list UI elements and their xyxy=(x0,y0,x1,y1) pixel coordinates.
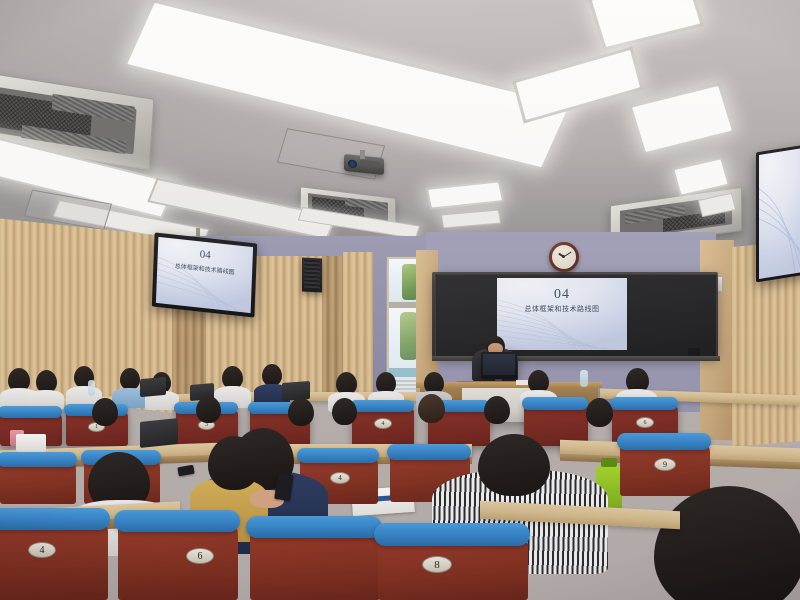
tissue-box xyxy=(16,434,46,452)
seat: 4 xyxy=(352,406,414,446)
wood-acoustic-panel xyxy=(343,252,373,392)
seat xyxy=(250,528,380,600)
right-wall-monitor xyxy=(756,144,800,283)
lecture-hall-photo: 04 总体框架和技术路线图 04 总体框架和技术路线图 xyxy=(0,0,800,600)
seat-number-plate: 9 xyxy=(654,458,676,471)
attendee-head xyxy=(332,398,357,425)
wall-speaker xyxy=(302,257,322,292)
seat: 8 xyxy=(378,536,528,600)
seat xyxy=(0,460,76,504)
seat-number-plate: 4 xyxy=(374,418,392,429)
attendee-head xyxy=(484,396,510,424)
slide-section-title: 总体框架和技术路线图 xyxy=(497,304,627,314)
seat-number-plate: 4 xyxy=(330,472,350,484)
board-bracket xyxy=(688,348,700,356)
attendee-head xyxy=(208,436,260,490)
water-bottle xyxy=(88,380,95,396)
laptop xyxy=(140,377,166,397)
seat: 6 xyxy=(118,522,238,600)
attendee-head xyxy=(478,434,550,496)
attendee-head xyxy=(654,486,800,600)
seat-number-plate: 6 xyxy=(186,548,214,564)
left-wall-monitor: 04 总体框架和技术路线图 xyxy=(152,232,257,317)
laptop xyxy=(140,418,178,448)
attendee-head xyxy=(586,398,613,427)
seat: 9 xyxy=(620,442,710,496)
seat-number-plate: 4 xyxy=(28,542,56,558)
attendee-head xyxy=(92,398,118,426)
attendee-head xyxy=(288,398,314,426)
podium-monitor xyxy=(481,352,517,379)
slide-arc-decoration xyxy=(759,147,800,279)
seat-number-plate: 8 xyxy=(422,556,452,573)
projection-screen: 04 总体框架和技术路线图 xyxy=(497,278,627,350)
attendee-head xyxy=(418,394,445,423)
projector-mount xyxy=(360,150,365,159)
slide-section-number: 04 xyxy=(497,287,627,303)
attendee-head xyxy=(262,364,282,386)
seat-number-plate: 6 xyxy=(636,417,654,428)
attendee-head xyxy=(196,396,221,423)
attendee-head xyxy=(120,368,140,390)
water-bottle xyxy=(580,370,588,387)
smartphone[interactable] xyxy=(177,465,194,477)
wall-clock xyxy=(549,242,579,272)
seat: 4 xyxy=(0,520,108,600)
